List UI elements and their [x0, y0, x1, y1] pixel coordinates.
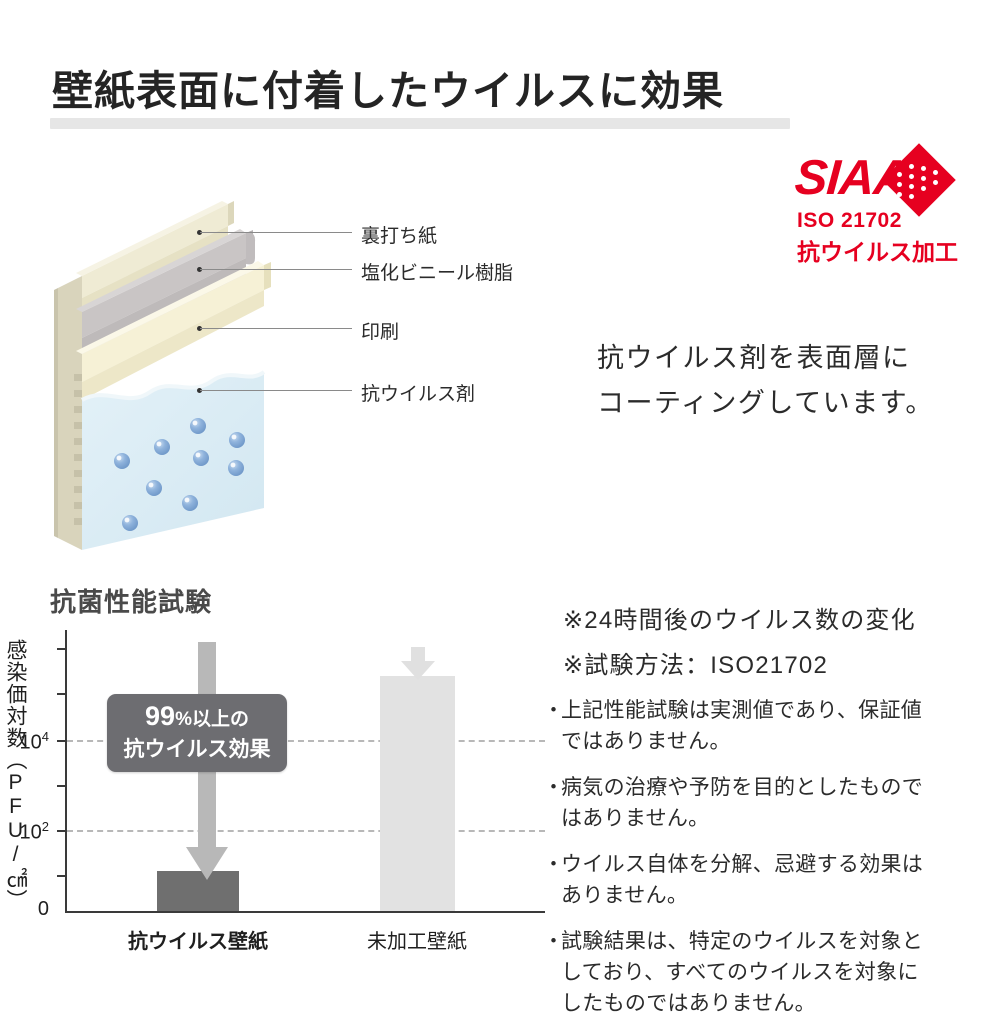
- diagram-label-backing-paper: 裏打ち紙: [361, 221, 437, 248]
- efficacy-badge: 99%以上の 抗ウイルス効果: [107, 694, 287, 772]
- layer-antiviral-coating: [82, 372, 264, 550]
- coating-line-1: 抗ウイルス剤を表面層に: [597, 336, 934, 381]
- bullet-marker: ・: [543, 772, 561, 834]
- leader-rule-3: [200, 328, 352, 329]
- x-category-label-treated: 抗ウイルス壁紙: [125, 925, 271, 954]
- y-axis-label: 感染価対数（PFU/㎠）: [0, 639, 32, 911]
- note-line-2: ※試験方法：ISO21702: [563, 645, 828, 680]
- x-category-label-untreated: 未加工壁紙: [347, 925, 487, 954]
- bullet-marker: ・: [543, 695, 561, 757]
- bullet-text-line: ウイルス自体を分解、忌避する効果は: [561, 849, 923, 880]
- page-title: 壁紙表面に付着したウイルスに効果: [52, 57, 724, 117]
- y-tick-label-0: 0: [3, 898, 49, 921]
- chart-title: 抗菌性能試験: [50, 582, 212, 619]
- leader-rule-2: [200, 269, 352, 270]
- efficacy-percent-number: 99: [145, 701, 175, 731]
- coating-description: 抗ウイルス剤を表面層に コーティングしています。: [597, 336, 934, 426]
- leader-rule-4: [200, 390, 352, 391]
- antiviral-bar-chart: 感染価対数（PFU/㎠） 104 102 0 抗ウイルス壁紙: [0, 630, 550, 950]
- y-axis-tick: [57, 875, 66, 877]
- y-axis-tick: [57, 648, 66, 650]
- diagram-label-antiviral-agent: 抗ウイルス剤: [361, 379, 475, 406]
- note-line-1: ※24時間後のウイルス数の変化: [563, 600, 916, 635]
- list-item: ・ 試験結果は、特定のウイルスを対象と しており、すべてのウイルスを対象に した…: [543, 926, 995, 1019]
- bullet-text-line: ありません。: [561, 880, 923, 911]
- siaa-logo-top: SIAA: [795, 152, 965, 208]
- bullet-marker: ・: [543, 849, 561, 911]
- siaa-dot-grid-icon: [896, 160, 942, 204]
- bullet-marker: ・: [543, 926, 561, 1019]
- y-axis-label-box: 感染価対数（PFU/㎠）: [0, 639, 34, 909]
- y-axis-tick: [57, 693, 66, 695]
- y-tick-label-10e2: 102: [3, 819, 49, 845]
- diagram-label-print: 印刷: [361, 317, 399, 344]
- gridline-10e2: [67, 830, 545, 832]
- efficacy-percent-suffix: 以上の: [192, 709, 249, 730]
- bullet-text-line: 上記性能試験は実測値であり、保証値: [561, 695, 922, 726]
- x-axis-line: [65, 911, 545, 913]
- bullet-text: 上記性能試験は実測値であり、保証値 ではありません。: [561, 695, 922, 757]
- bullet-text-line: ではありません。: [561, 726, 922, 757]
- title-underline-bar: [50, 118, 790, 129]
- bullet-text-line: 試験結果は、特定のウイルスを対象と: [561, 926, 923, 957]
- efficacy-badge-line-2: 抗ウイルス効果: [124, 735, 271, 765]
- y-axis-tick: [57, 830, 66, 832]
- bullet-text-line: しており、すべてのウイルスを対象に: [561, 957, 923, 988]
- poster-root: 壁紙表面に付着したウイルスに効果 SIAA ISO 21702 抗ウイルス加工: [0, 0, 1000, 1000]
- efficacy-percent-sign: %: [175, 709, 192, 730]
- siaa-caption: 抗ウイルス加工: [797, 233, 958, 267]
- siaa-logo: SIAA ISO 21702 抗ウイルス加工: [795, 152, 965, 262]
- bullet-text: 試験結果は、特定のウイルスを対象と しており、すべてのウイルスを対象に したもの…: [561, 926, 923, 1019]
- disclaimer-list: ・ 上記性能試験は実測値であり、保証値 ではありません。 ・ 病気の治療や予防を…: [543, 695, 995, 1034]
- y-axis-tick: [57, 740, 66, 742]
- bullet-text-line: したものではありません。: [561, 988, 923, 1019]
- list-item: ・ ウイルス自体を分解、忌避する効果は ありません。: [543, 849, 995, 911]
- down-arrow-untreated-icon: [399, 647, 437, 681]
- list-item: ・ 上記性能試験は実測値であり、保証値 ではありません。: [543, 695, 995, 757]
- wallpaper-cross-section-diagram: [50, 178, 350, 560]
- leader-rule-1: [200, 232, 352, 233]
- diagram-label-vinyl-resin: 塩化ビニール樹脂: [361, 258, 513, 285]
- y-tick-label-10e4: 104: [3, 729, 49, 755]
- bullet-text: ウイルス自体を分解、忌避する効果は ありません。: [561, 849, 923, 911]
- y-axis-line: [65, 630, 67, 912]
- bullet-text: 病気の治療や予防を目的としたもので はありません。: [561, 772, 923, 834]
- list-item: ・ 病気の治療や予防を目的としたもので はありません。: [543, 772, 995, 834]
- bullet-text-line: 病気の治療や予防を目的としたもので: [561, 772, 923, 803]
- efficacy-badge-line-1: 99%以上の: [145, 701, 249, 735]
- bullet-text-line: はありません。: [561, 803, 923, 834]
- siaa-iso-number: ISO 21702: [797, 209, 902, 233]
- bar-untreated-wallpaper: [380, 676, 455, 911]
- substrate-edge: [54, 276, 83, 550]
- y-axis-tick: [57, 785, 66, 787]
- coating-line-2: コーティングしています。: [597, 381, 934, 426]
